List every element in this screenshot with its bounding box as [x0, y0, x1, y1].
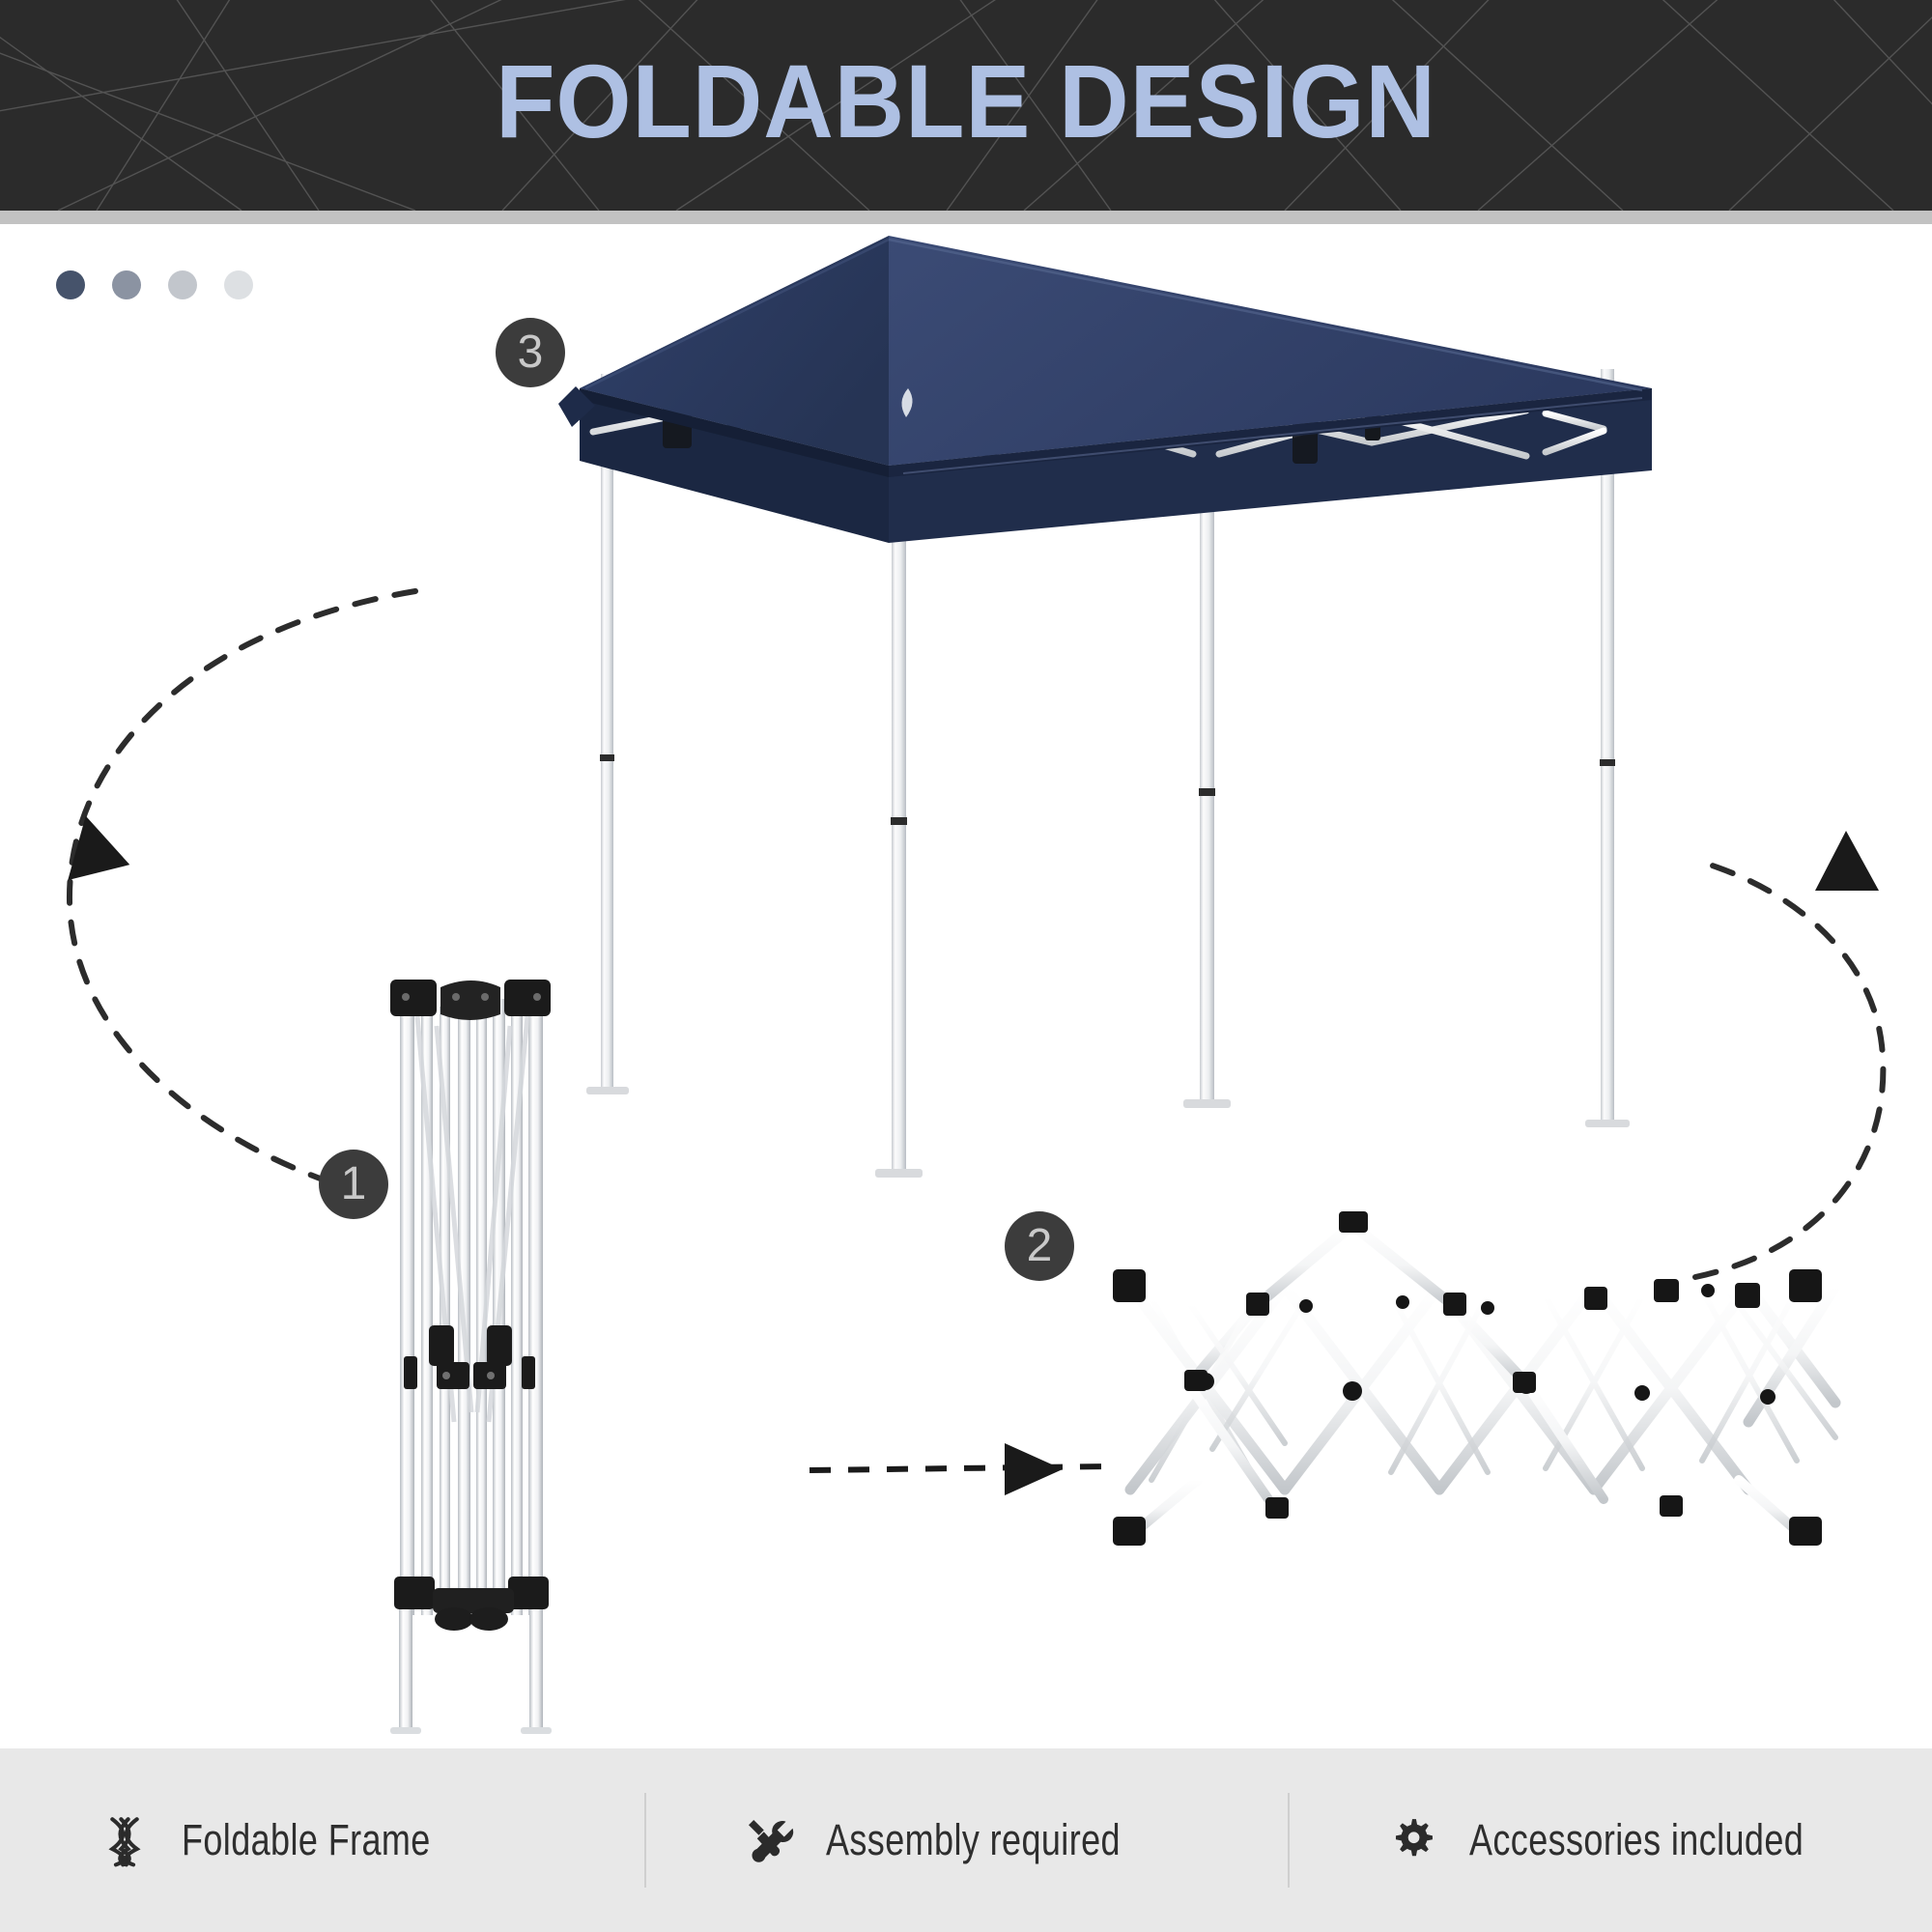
folded-frame-tubes [390, 997, 552, 1734]
feature-label-accessories-included: Accessories included [1469, 1815, 1804, 1865]
canopy-leg-mid-right [1183, 403, 1231, 1108]
step-badge-3: 3 [496, 318, 565, 387]
folded-frame-illustration [0, 224, 1932, 1748]
pagination-dot-3[interactable] [168, 270, 197, 299]
illustration-stage: 3 1 2 [0, 224, 1932, 1748]
pagination-dot-4[interactable] [224, 270, 253, 299]
expanded-frame-joints [1113, 1211, 1822, 1546]
assembled-canopy-illustration [0, 224, 1932, 1748]
expanded-frame-illustration [0, 224, 1932, 1748]
unfold-arrow-right [1695, 831, 1883, 1277]
expanded-frame-lattice [1128, 1225, 1835, 1685]
feature-assembly-required: Assembly required [644, 1748, 1289, 1932]
folded-frame-foot-brackets [394, 1577, 549, 1631]
header-banner: FOLDABLE DESIGN [0, 0, 1932, 211]
pagination-dot-1[interactable] [56, 270, 85, 299]
canopy-truss-joints [663, 394, 1380, 464]
feature-accessories-included: Accessories included [1288, 1748, 1932, 1932]
folded-frame-top-brackets [390, 980, 551, 1020]
foldable-frame-icon [95, 1810, 155, 1870]
folded-frame-mid-brackets [404, 1325, 535, 1389]
expand-arrow-middle [810, 1443, 1109, 1495]
product-infographic: FOLDABLE DESIGN [0, 0, 1932, 1932]
canopy-truss-frame [593, 386, 1604, 456]
feature-bar: Foldable Frame Assembly required [0, 1748, 1932, 1932]
step-badge-1: 1 [319, 1150, 388, 1219]
pagination-dot-2[interactable] [112, 270, 141, 299]
image-pagination-dots[interactable] [56, 270, 253, 299]
canopy-leg-front-left [586, 374, 629, 1094]
feature-foldable-frame: Foldable Frame [0, 1748, 644, 1932]
header-divider-rule [0, 211, 1932, 224]
flow-arrows [0, 224, 1932, 1748]
fold-arrow-left [54, 591, 415, 1200]
feature-label-foldable-frame: Foldable Frame [182, 1815, 431, 1865]
gear-icon [1382, 1810, 1442, 1870]
step-badge-2: 2 [1005, 1211, 1074, 1281]
feature-label-assembly-required: Assembly required [826, 1815, 1121, 1865]
canopy-leg-back-right [1585, 369, 1630, 1127]
canopy-valance [580, 388, 1652, 543]
assembly-tools-icon [739, 1810, 799, 1870]
canopy-leg-mid-left [875, 408, 923, 1178]
canopy-roof-fabric [558, 236, 1652, 477]
canopy-legs [586, 369, 1630, 1178]
page-title: FOLDABLE DESIGN [68, 0, 1864, 211]
